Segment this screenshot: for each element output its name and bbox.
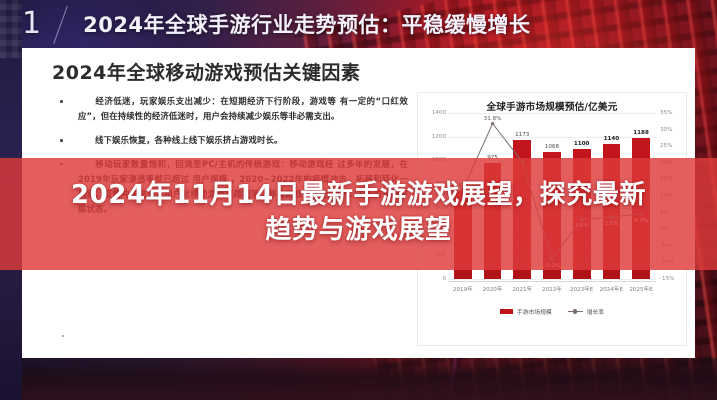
x-tick-label: 2025年E bbox=[629, 285, 653, 301]
chart-legend: 手游市场规模 增长率 bbox=[418, 307, 686, 316]
slide-number: 1 bbox=[22, 9, 41, 39]
y-tick-label: 1200 bbox=[432, 134, 446, 140]
overlay-title-line-1: 2024年11月14日最新手游游戏展望，探究最新 bbox=[71, 179, 646, 212]
legend-label: 增长率 bbox=[587, 307, 604, 316]
bullet-text: 经济低迷，玩家娱乐支出减少：在短期经济下行阶段，游戏等 有一定的“口红效应”，但… bbox=[78, 96, 408, 121]
background-bottom-shadow bbox=[0, 358, 717, 400]
x-tick-label: 2024年E bbox=[599, 285, 623, 301]
gridline bbox=[448, 279, 656, 280]
chart-title: 全球手游市场规模预估/亿美元 bbox=[418, 99, 686, 113]
legend-label: 手游市场规模 bbox=[517, 307, 552, 316]
slide-screenshot: 1 2024年全球手游行业走势预估：平稳缓慢增长 2024年全球移动游戏预估关键… bbox=[0, 0, 717, 400]
slash-divider-icon bbox=[49, 7, 75, 41]
chart-x-axis: 2019年2020年2021年2022年2023年E2024年E2025年E bbox=[448, 281, 656, 301]
x-tick-label: 2023年E bbox=[570, 285, 594, 301]
legend-item-line: 增长率 bbox=[568, 307, 604, 316]
bullet-item: 经济低迷，玩家娱乐支出减少：在短期经济下行阶段，游戏等 有一定的“口红效应”，但… bbox=[56, 94, 408, 124]
x-tick-label: 2020年 bbox=[481, 285, 505, 301]
line-swatch-icon bbox=[568, 309, 583, 314]
y2-tick-label: 30% bbox=[660, 127, 672, 133]
overlay-title-line-2: 趋势与游戏展望 bbox=[265, 214, 451, 247]
bullet-item: 线下娱乐恢复，各种线上线下娱乐挤占游戏时长。 bbox=[56, 133, 408, 148]
y2-tick-label: -15% bbox=[660, 276, 674, 282]
bullet-text: 线下娱乐恢复，各种线上线下娱乐挤占游戏时长。 bbox=[95, 135, 283, 145]
x-tick-label: 2019年 bbox=[451, 285, 475, 301]
x-tick-label: 2022年 bbox=[540, 285, 564, 301]
stray-bullet-dot bbox=[62, 335, 64, 337]
slide-header: 1 2024年全球手游行业走势预估：平稳缓慢增长 bbox=[22, 2, 531, 46]
y2-tick-label: 25% bbox=[660, 143, 672, 149]
slide-header-title: 2024年全球手游行业走势预估：平稳缓慢增长 bbox=[83, 9, 530, 39]
legend-item-bar: 手游市场规模 bbox=[500, 307, 552, 316]
y-tick-label: 1400 bbox=[432, 110, 446, 116]
y-tick-label: 0 bbox=[442, 276, 446, 282]
overlay-title: 2024年11月14日最新手游游戏展望，探究最新 趋势与游戏展望 bbox=[0, 163, 717, 263]
card-title: 2024年全球移动游戏预估关键因素 bbox=[52, 58, 360, 85]
y2-tick-label: 35% bbox=[660, 110, 672, 116]
x-tick-label: 2021年 bbox=[510, 285, 534, 301]
bar-swatch-icon bbox=[500, 309, 513, 314]
background-left-checker bbox=[0, 0, 22, 58]
